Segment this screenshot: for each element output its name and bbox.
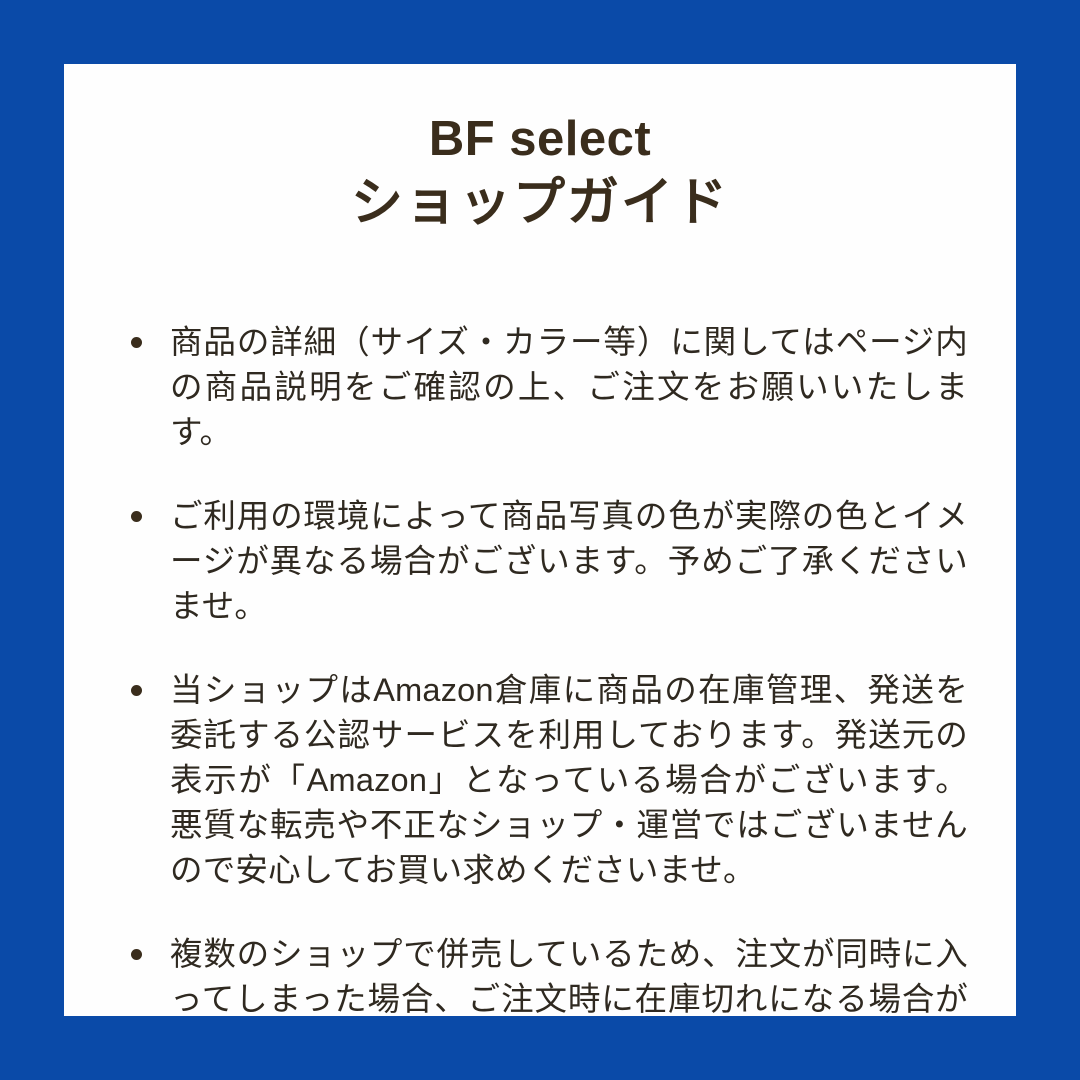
guide-card: BF select ショップガイド 商品の詳細（サイズ・カラー等）に関してはペー… (0, 0, 1080, 1080)
bullet-dot-icon (131, 685, 142, 696)
page-title-line-1: BF select (64, 108, 1016, 170)
bullet-dot-icon (131, 511, 142, 522)
bullet-dot-icon (131, 949, 142, 960)
page-title-line-2: ショップガイド (64, 170, 1016, 236)
list-item-text: ご利用の環境によって商品写真の色が実際の色とイメージが異なる場合がございます。予… (170, 494, 968, 629)
list-item-text: 商品の詳細（サイズ・カラー等）に関してはページ内の商品説明をご確認の上、ご注文を… (170, 320, 968, 455)
list-item: 複数のショップで併売しているため、注文が同時に入ってしまった場合、ご注文時に在庫… (122, 932, 968, 1016)
list-item-text: 複数のショップで併売しているため、注文が同時に入ってしまった場合、ご注文時に在庫… (170, 932, 968, 1016)
page-title: BF select ショップガイド (64, 108, 1016, 236)
list-item: 商品の詳細（サイズ・カラー等）に関してはページ内の商品説明をご確認の上、ご注文を… (122, 320, 968, 455)
list-item: 当ショップはAmazon倉庫に商品の在庫管理、発送を委託する公認サービスを利用し… (122, 668, 968, 893)
content-panel: BF select ショップガイド 商品の詳細（サイズ・カラー等）に関してはペー… (64, 64, 1016, 1016)
list-item-text: 当ショップはAmazon倉庫に商品の在庫管理、発送を委託する公認サービスを利用し… (170, 668, 968, 893)
guide-bullet-list: 商品の詳細（サイズ・カラー等）に関してはページ内の商品説明をご確認の上、ご注文を… (122, 320, 968, 1016)
bullet-dot-icon (131, 337, 142, 348)
list-item: ご利用の環境によって商品写真の色が実際の色とイメージが異なる場合がございます。予… (122, 494, 968, 629)
